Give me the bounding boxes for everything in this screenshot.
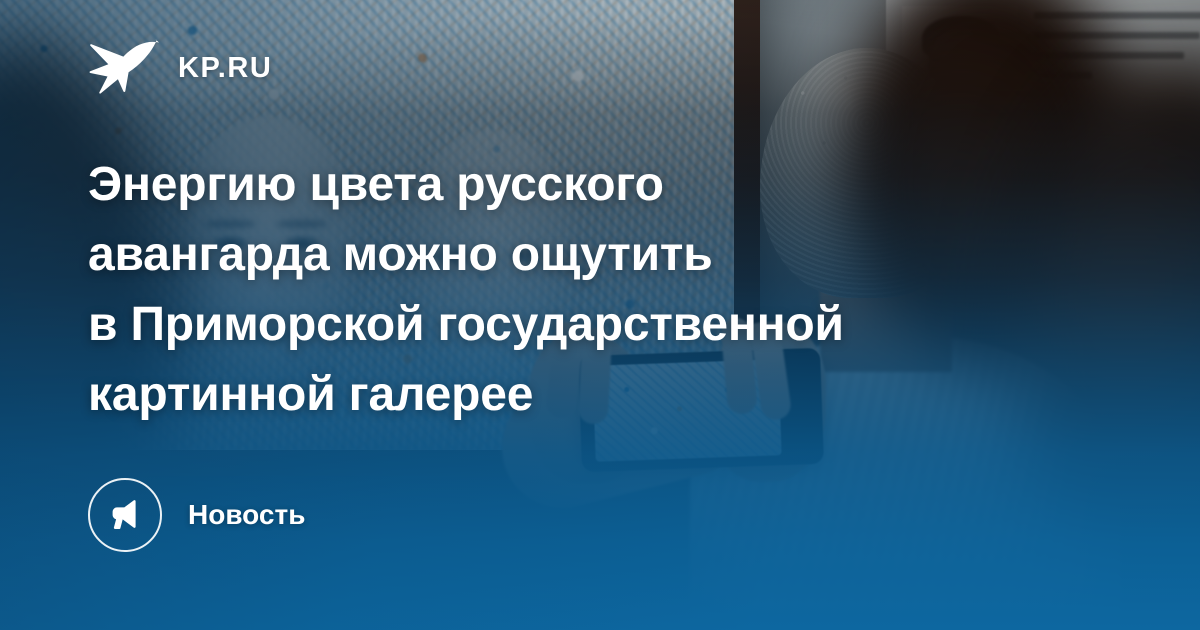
card-content: KP.RU Энергию цвета русского авангарда м… [0,0,1200,630]
headline-line: картинной галерее [88,360,1048,430]
headline-line: в Приморской государственной [88,290,1048,360]
brand-lockup[interactable]: KP.RU [88,32,272,104]
swallow-bird-logo-icon [88,32,160,104]
headline-line: авангарда можно ощутить [88,220,1048,290]
megaphone-icon [105,495,145,535]
megaphone-badge-circle [88,478,162,552]
status-badge[interactable]: Новость [88,478,305,552]
headline-line: Энергию цвета русского [88,150,1048,220]
page-title: Энергию цвета русского авангарда можно о… [88,150,1048,430]
brand-name: KP.RU [178,54,272,83]
status-badge-label: Новость [188,501,305,529]
social-share-card: KP.RU Энергию цвета русского авангарда м… [0,0,1200,630]
